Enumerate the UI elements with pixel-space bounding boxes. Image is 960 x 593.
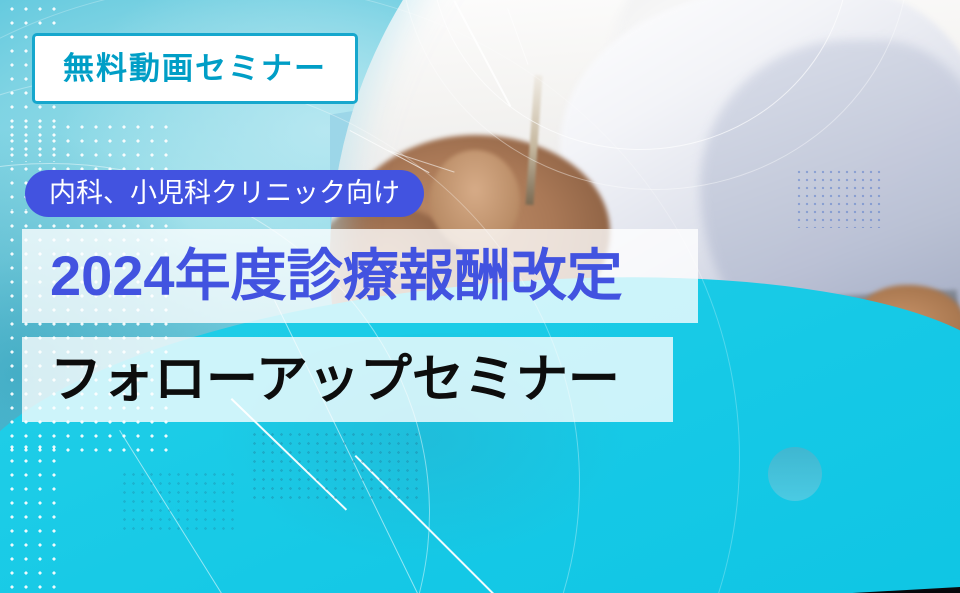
target-audience-pill: 内科、小児科クリニック向け — [25, 170, 424, 217]
dot-grid-left-bottom — [5, 440, 65, 593]
dot-grid-on-photo — [795, 168, 885, 228]
seminar-banner: 無料動画セミナー 内科、小児科クリニック向け 2024年度診療報酬改定 フォロー… — [0, 0, 960, 593]
free-seminar-badge: 無料動画セミナー — [32, 33, 358, 104]
title-line1-band: 2024年度診療報酬改定 — [22, 229, 698, 323]
dark-dot-grid-1 — [250, 430, 420, 500]
title-line2: フォローアップセミナー — [50, 354, 620, 406]
title-line2-band: フォローアップセミナー — [22, 337, 673, 422]
teal-bubble-decoration — [768, 447, 822, 501]
dark-dot-grid-2 — [120, 470, 240, 530]
target-audience-label: 内科、小児科クリニック向け — [49, 180, 400, 207]
free-seminar-badge-label: 無料動画セミナー — [63, 53, 327, 84]
title-line1: 2024年度診療報酬改定 — [50, 248, 623, 304]
